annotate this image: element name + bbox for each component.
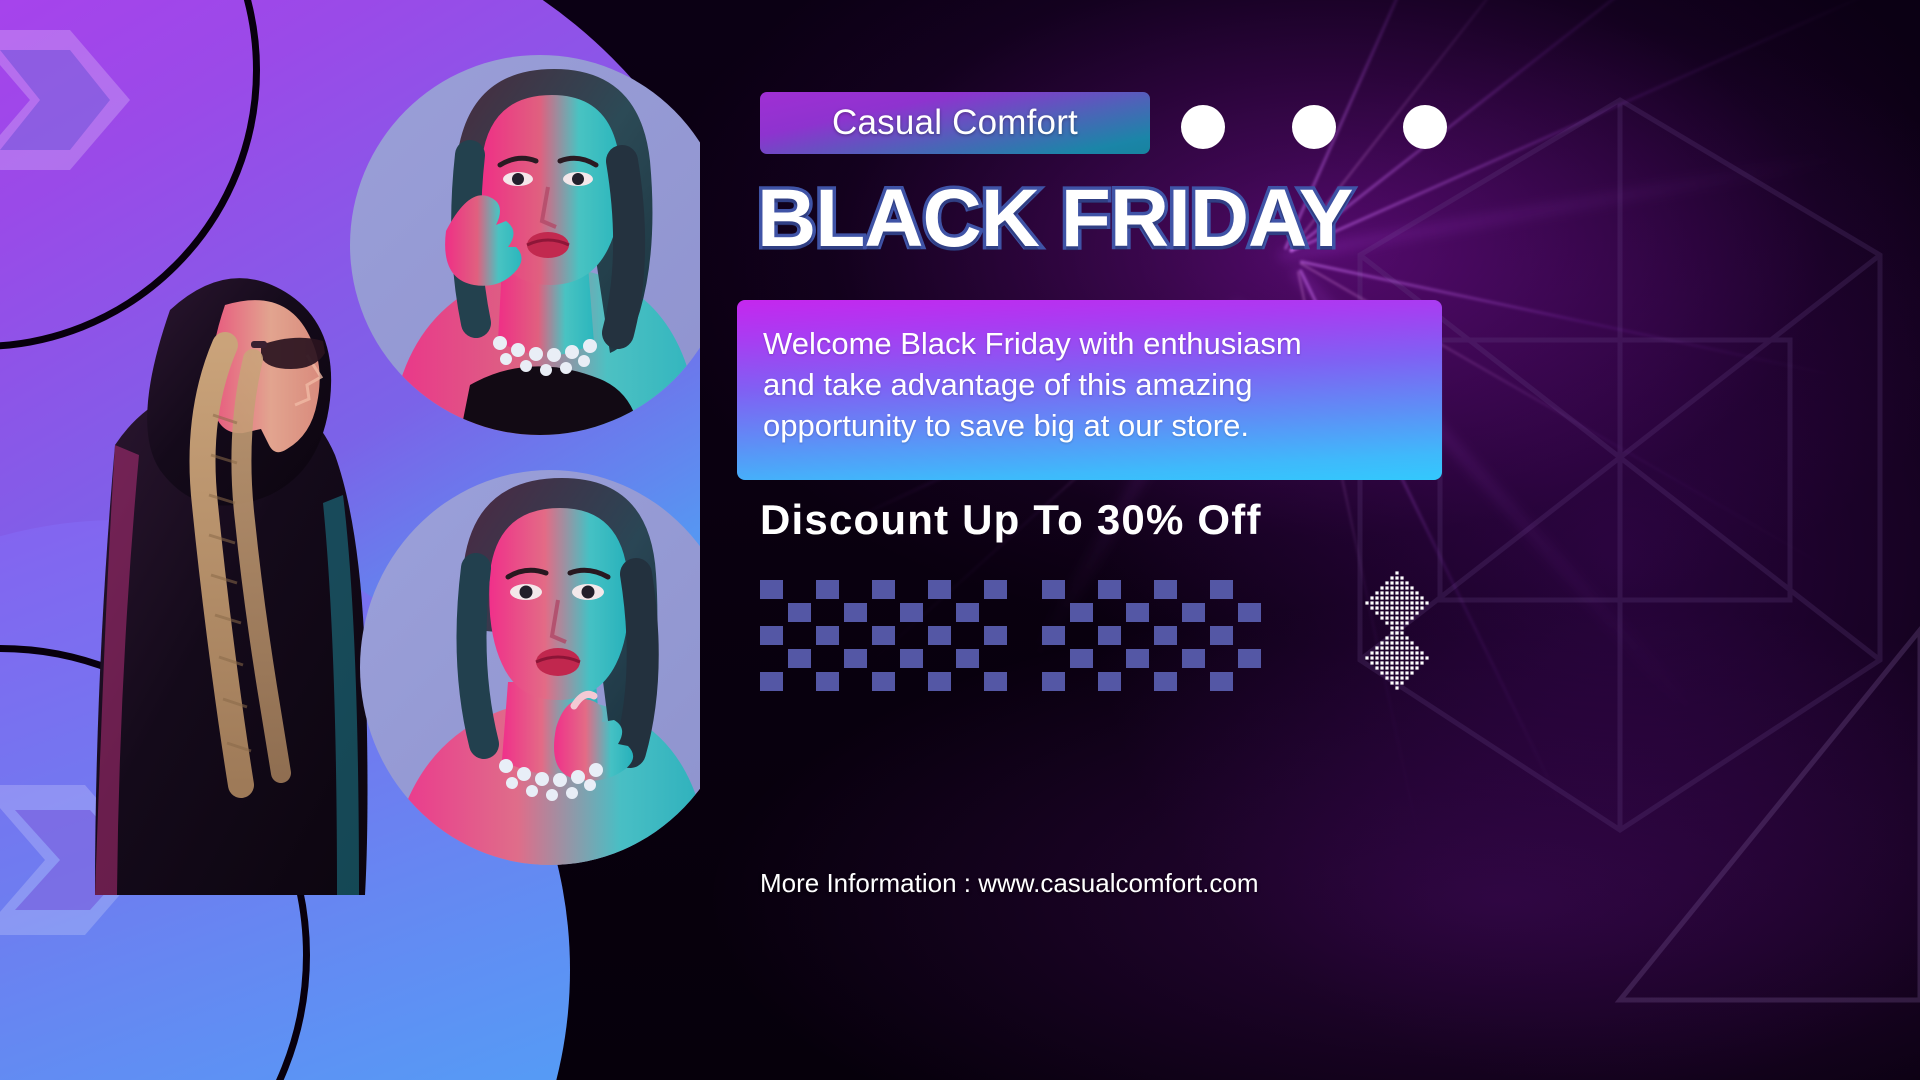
description-line-1: Welcome Black Friday with enthusiasm	[763, 324, 1412, 365]
chevron-icon	[0, 10, 180, 190]
brand-badge[interactable]: Casual Comfort	[760, 92, 1150, 154]
description-panel: Welcome Black Friday with enthusiasm and…	[737, 300, 1442, 480]
description-line-2: and take advantage of this amazing	[763, 365, 1412, 406]
page-title: BLACK FRIDAY	[757, 178, 1457, 260]
dot-indicators	[1181, 105, 1447, 149]
black-friday-banner: Casual Comfort BLACK FRIDAY Welcome Blac…	[0, 0, 1920, 1080]
discount-headline: Discount Up To 30% Off	[760, 496, 1460, 544]
brand-badge-label: Casual Comfort	[832, 103, 1078, 143]
circle-dot-icon[interactable]	[1181, 105, 1225, 149]
diamond-dots-icon	[1357, 570, 1437, 690]
description-line-3: opportunity to save big at our store.	[763, 406, 1412, 447]
content-column: Casual Comfort BLACK FRIDAY Welcome Blac…	[757, 0, 1857, 1080]
circle-dot-icon[interactable]	[1292, 105, 1336, 149]
left-collage-panel	[0, 0, 700, 1080]
footer-more-info: More Information : www.casualcomfort.com	[760, 868, 1460, 899]
checkerboard-decor	[760, 580, 1266, 695]
checkerboard-icon	[1042, 580, 1266, 695]
checkerboard-icon	[760, 580, 1012, 695]
circle-dot-icon[interactable]	[1403, 105, 1447, 149]
